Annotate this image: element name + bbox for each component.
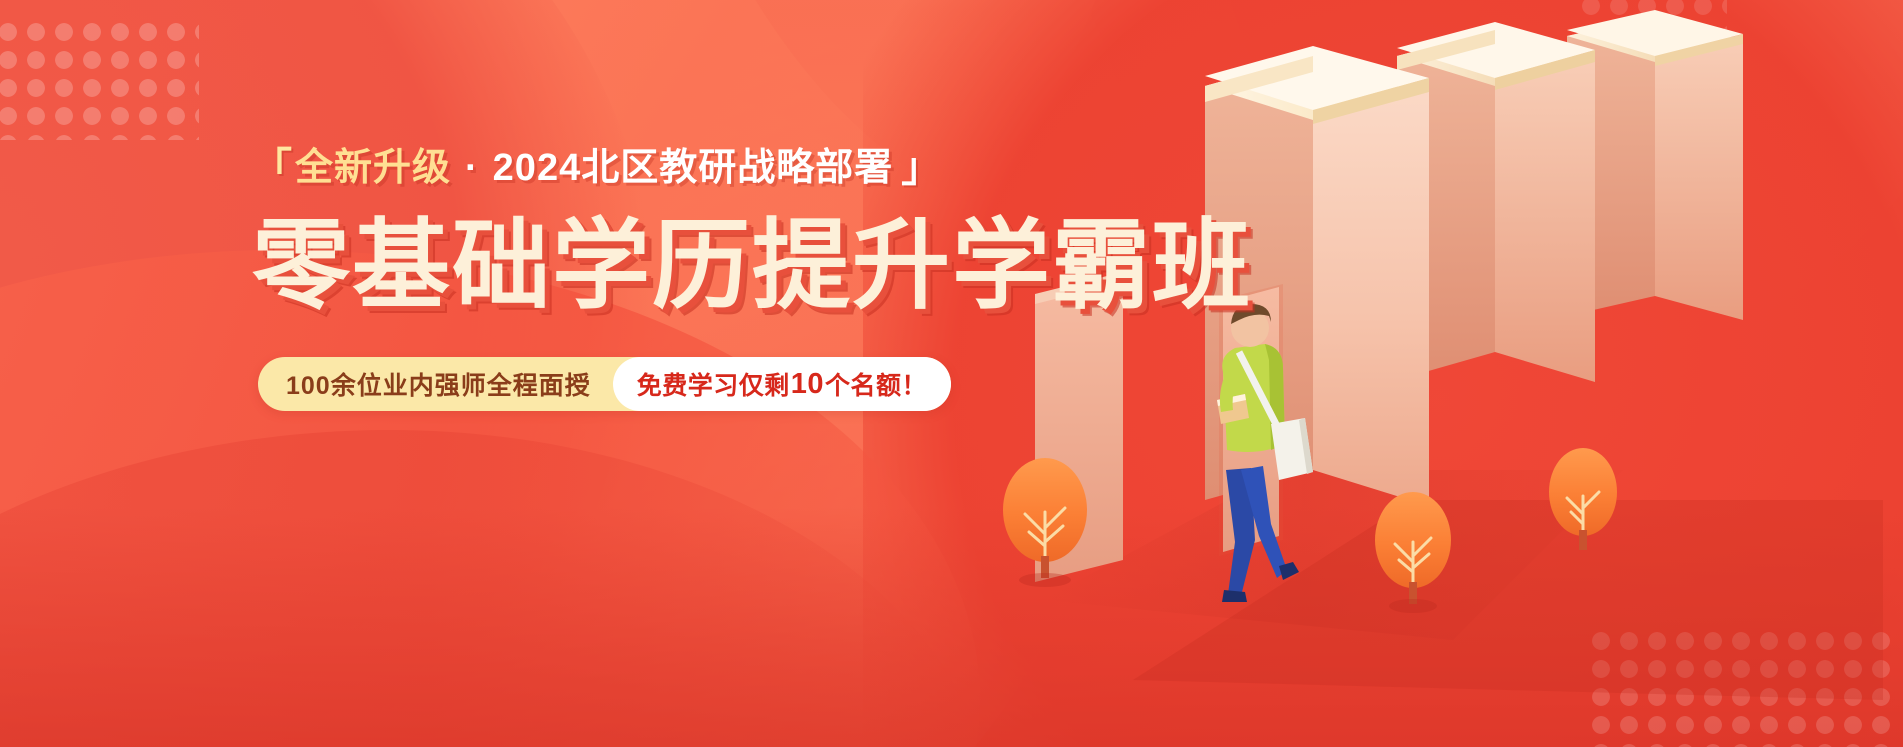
copy-block: 「 全新升级 · 2024北区教研战略部署 」 零基础学历提升学霸班 <box>252 148 1012 317</box>
subtitle-white: 2024北区教研战略部署 <box>493 149 894 187</box>
pill-prefix: 免费学习仅剩 <box>637 366 790 402</box>
bracket-open: 「 <box>252 148 293 188</box>
pill-suffix: 个名额！ <box>825 366 927 402</box>
pill-highlight[interactable]: 免费学习仅剩 10 个名额！ <box>613 357 951 411</box>
pill-number: 10 <box>790 368 825 401</box>
subtitle-separator: · <box>451 149 493 187</box>
subtitle-gold: 全新升级 <box>295 149 451 187</box>
offer-pill[interactable]: 100余位业内强师全程面授 免费学习仅剩 10 个名额！ <box>258 357 951 411</box>
pill-left-text: 100余位业内强师全程面授 <box>286 366 613 402</box>
illustration-open-books-archway <box>983 0 1903 747</box>
promo-banner: 「 全新升级 · 2024北区教研战略部署 」 零基础学历提升学霸班 100余位… <box>0 0 1903 747</box>
page-title: 零基础学历提升学霸班 <box>252 214 1012 317</box>
bracket-close: 」 <box>901 148 942 188</box>
subtitle: 「 全新升级 · 2024北区教研战略部署 」 <box>252 148 1012 188</box>
ground-shadow <box>1043 470 1883 700</box>
